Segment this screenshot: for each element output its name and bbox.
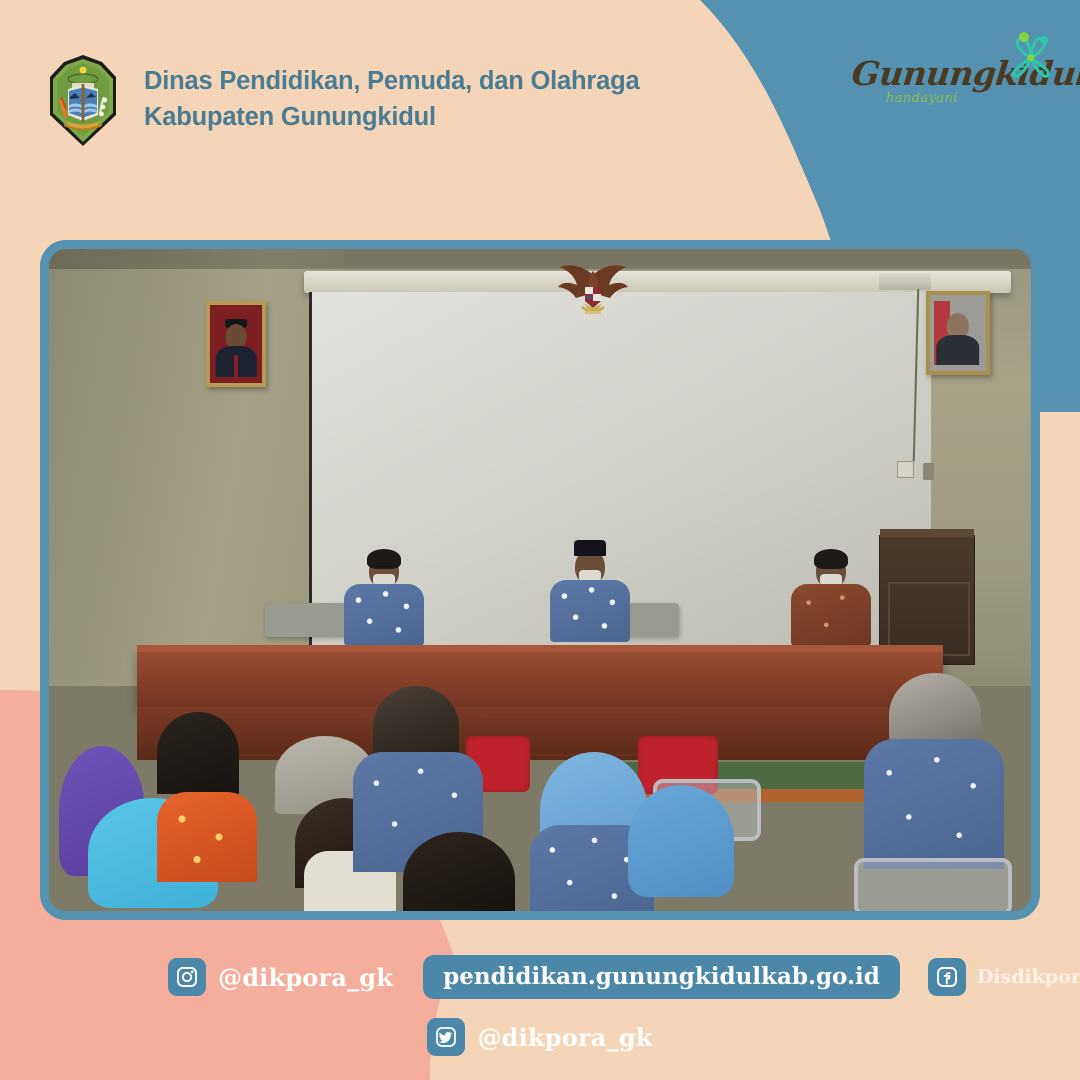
speaker-center (550, 550, 630, 647)
chrome-chair-frame-2 (854, 858, 1012, 911)
plug-adapter (923, 463, 934, 480)
vice-presidential-portrait (926, 291, 990, 375)
facebook-icon[interactable] (928, 958, 966, 996)
batik-flower-icon (1002, 28, 1060, 86)
garuda-pancasila-emblem (555, 261, 631, 323)
presidential-portrait (206, 301, 266, 387)
footer: @dikpora_gk pendidikan.gunungkidulkab.go… (0, 930, 1080, 1080)
wall-power-outlet (897, 461, 914, 478)
website-url-badge[interactable]: pendidikan.gunungkidulkab.go.id (423, 955, 900, 999)
speaker-left (344, 554, 424, 649)
facebook-group[interactable]: Disdikpora Gunungkidul (928, 958, 1080, 996)
gunungkidul-brand-logo: Gunungkidul handayani (852, 28, 1062, 128)
footer-row-twitter: @dikpora_gk (0, 1018, 1080, 1056)
audience-hijab-blue-2 (628, 785, 734, 897)
twitter-handle[interactable]: @dikpora_gk (477, 1023, 652, 1052)
gunungkidul-regency-crest-icon (44, 53, 122, 148)
speakers-table (137, 650, 942, 710)
air-conditioner (879, 273, 931, 290)
audience-body-korpri-3 (864, 739, 1004, 869)
instagram-handle[interactable]: @dikpora_gk (218, 963, 393, 992)
instagram-icon[interactable] (168, 958, 206, 996)
speaker-chair-1 (265, 603, 347, 637)
speaker-right (790, 554, 872, 649)
brand-tagline: handayani (886, 91, 958, 106)
footer-row-primary: @dikpora_gk pendidikan.gunungkidulkab.go… (168, 955, 1080, 999)
ceiling-shadow (49, 249, 1031, 269)
audience-body-orange (157, 792, 257, 882)
twitter-icon[interactable] (427, 1018, 465, 1056)
page-title-line-1: Dinas Pendidikan, Pemuda, dan Olahraga (144, 65, 639, 99)
poster-canvas: Dinas Pendidikan, Pemuda, dan Olahraga K… (0, 0, 1080, 1080)
audience-head-1 (157, 712, 239, 794)
meeting-room-photograph (40, 240, 1040, 920)
page-title-line-2: Kabupaten Gunungkidul (144, 101, 639, 135)
facebook-page-name[interactable]: Disdikpora Gunungkidul (977, 966, 1080, 988)
header: Dinas Pendidikan, Pemuda, dan Olahraga K… (0, 0, 700, 200)
photo-scene (49, 249, 1031, 911)
header-title-block: Dinas Pendidikan, Pemuda, dan Olahraga K… (144, 65, 639, 134)
